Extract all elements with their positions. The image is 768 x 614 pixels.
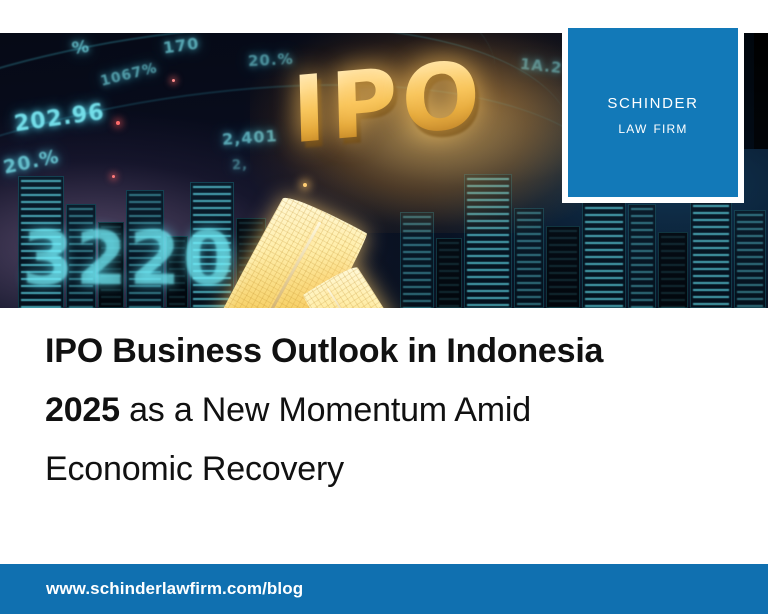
schinder-law-firm-logo: Schinder Law Firm — [562, 22, 744, 203]
building — [400, 212, 434, 308]
hero-big-number: 3220 — [22, 216, 236, 302]
glow-spark — [116, 121, 120, 125]
building — [436, 238, 462, 308]
building — [734, 210, 766, 308]
logo-inner-panel: Schinder Law Firm — [568, 28, 738, 197]
page-title-regular: as a New Momentum Amid Economic Recovery — [45, 391, 540, 488]
footer-bar: www.schinderlawfirm.com/blog — [0, 564, 768, 614]
hero-right-edge-band — [754, 33, 768, 149]
building — [658, 232, 688, 308]
building — [464, 174, 512, 308]
blog-cover-card: 202.96 20.% % 170 1067% 20.% 2,401 2, 1A… — [0, 0, 768, 614]
data-label: 2,401 — [221, 126, 278, 149]
building — [514, 208, 544, 308]
logo-name-law-firm: Law Firm — [618, 119, 687, 136]
article-title-block: IPO Business Outlook in Indonesia 2025 a… — [45, 322, 685, 499]
data-label: % — [71, 37, 92, 60]
logo-name-schinder: Schinder — [607, 90, 698, 112]
building — [546, 226, 580, 308]
ipo-text: IPO — [291, 49, 485, 158]
footer-url[interactable]: www.schinderlawfirm.com/blog — [46, 579, 303, 599]
glow-spark — [172, 79, 175, 82]
data-label: 20.% — [248, 50, 294, 70]
building — [628, 204, 656, 308]
page-title: IPO Business Outlook in Indonesia 2025 a… — [45, 322, 685, 499]
